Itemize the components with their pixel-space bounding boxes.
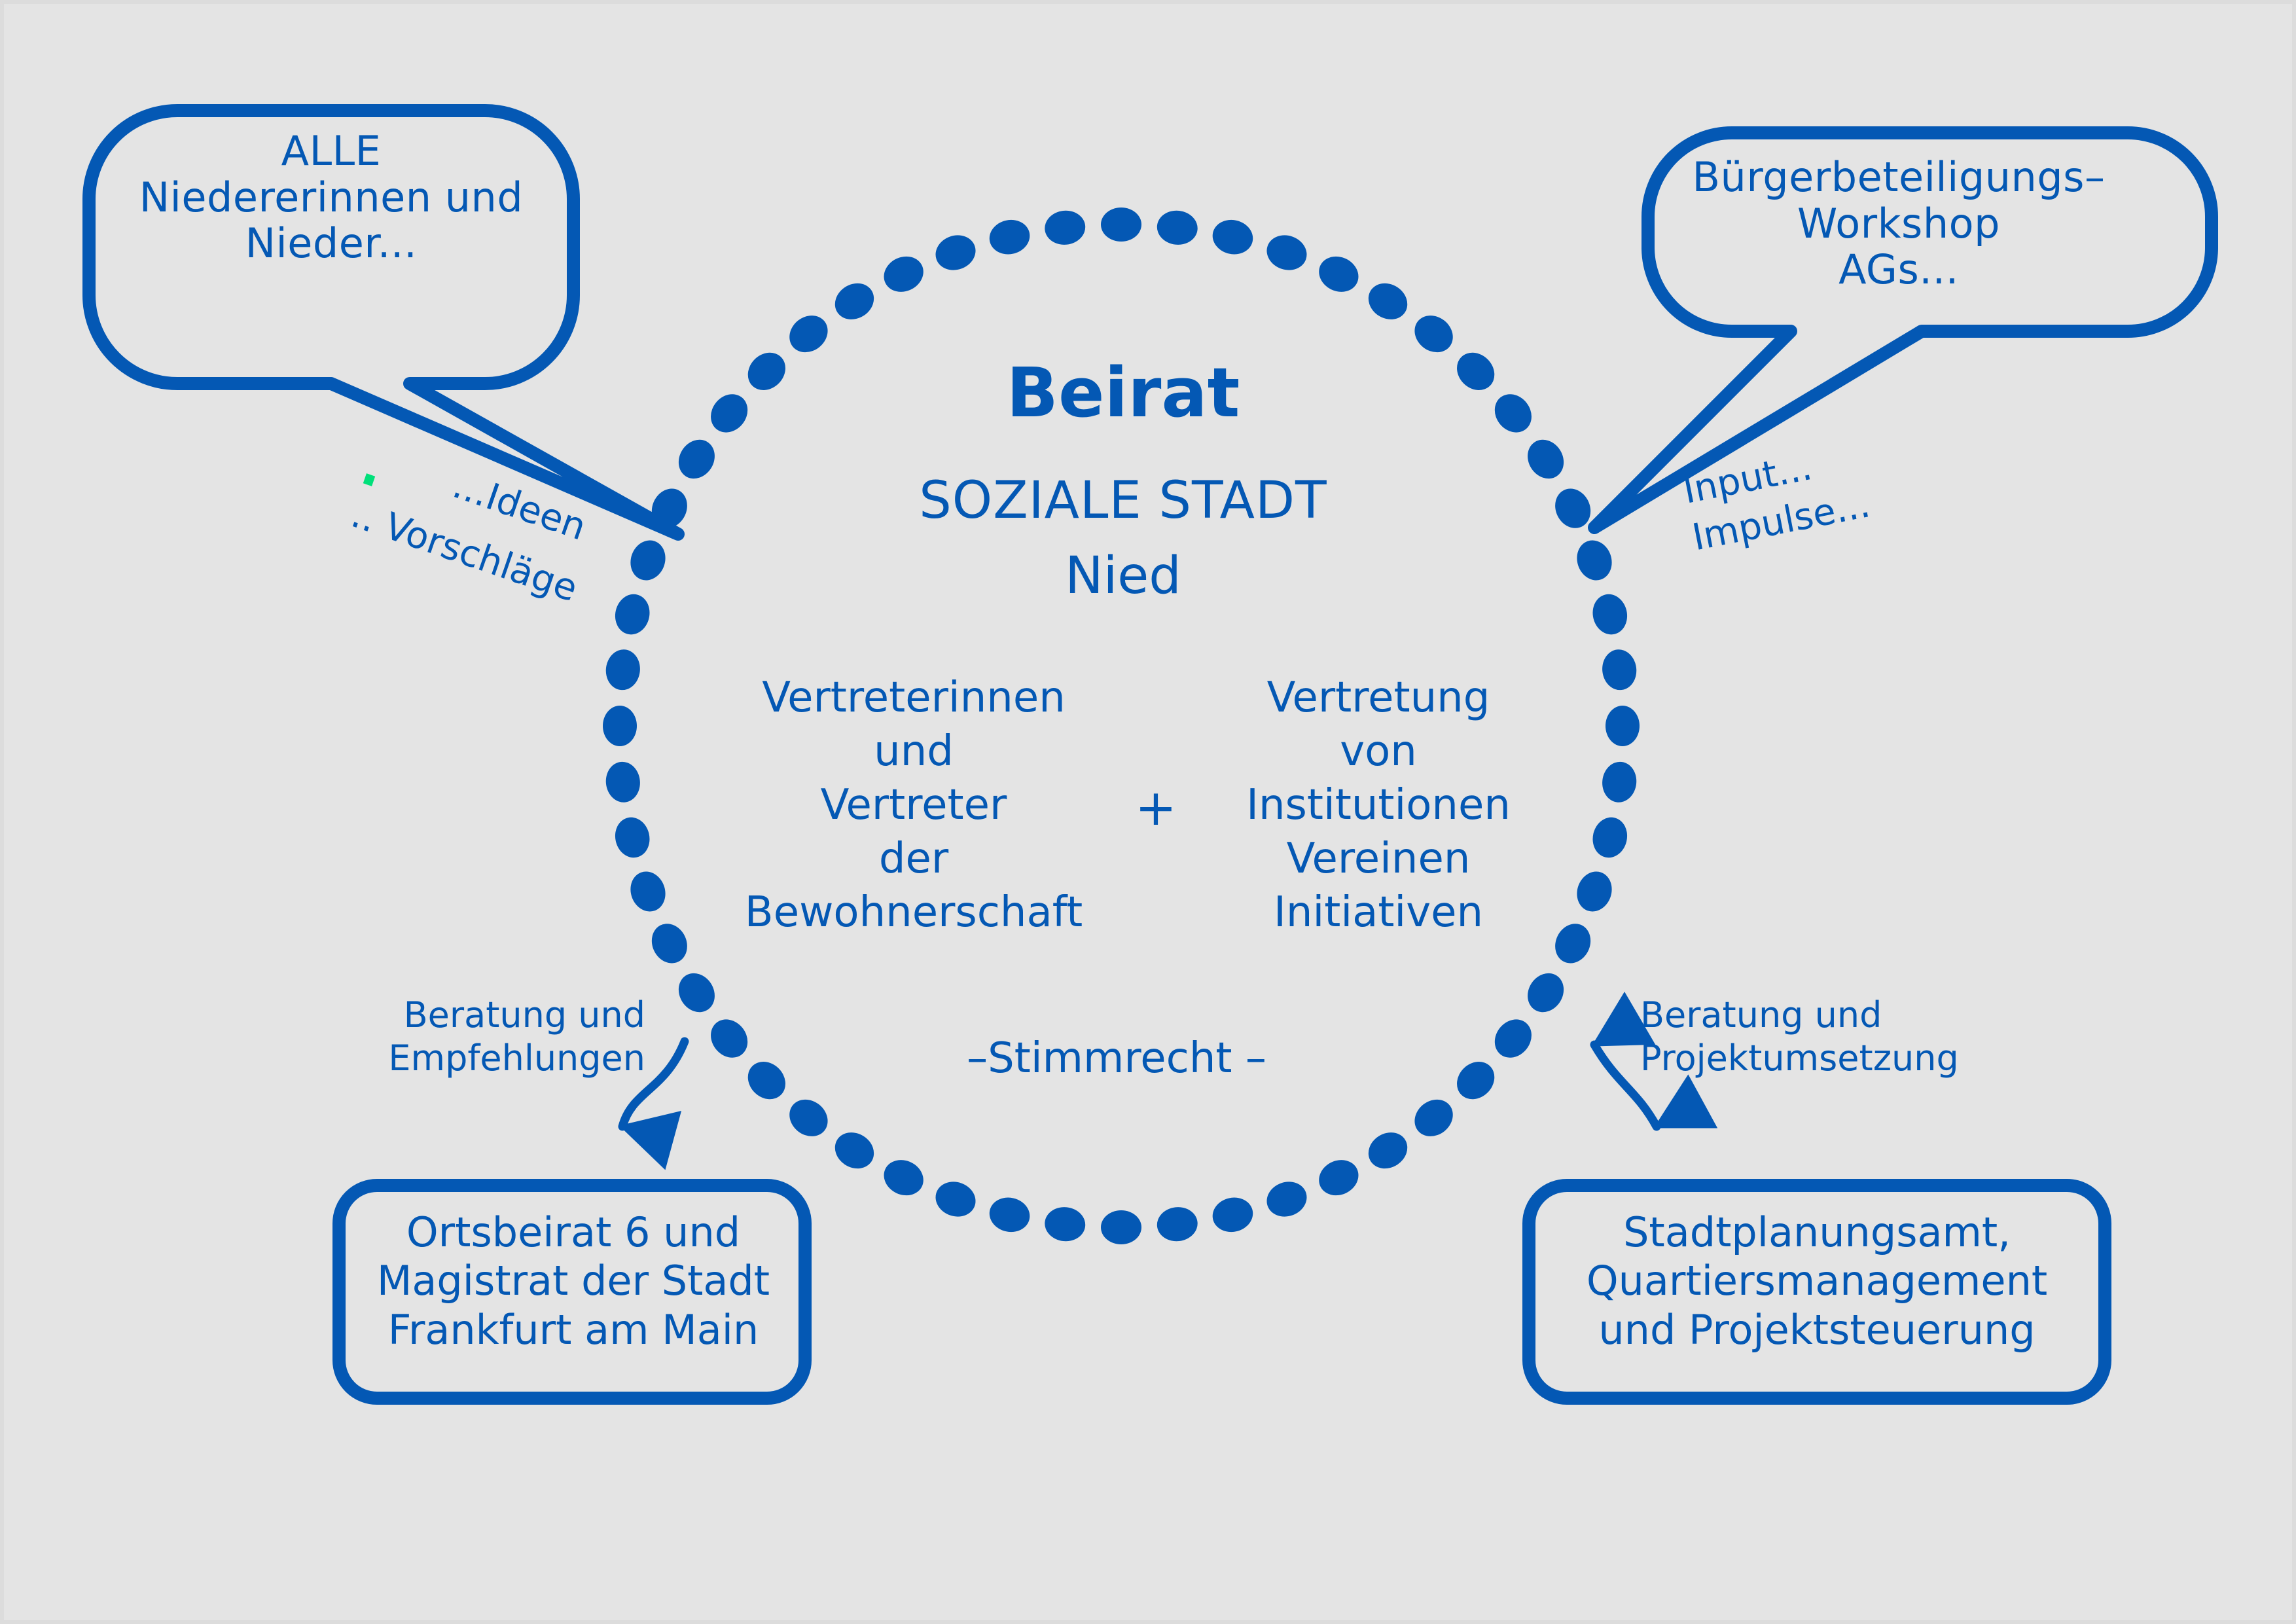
ring-dot — [1571, 535, 1617, 585]
ring-dot — [1361, 1125, 1414, 1176]
ring-dot — [1520, 966, 1571, 1019]
ring-dot — [1605, 706, 1640, 746]
ring-dot — [625, 535, 671, 585]
ring-dot — [1487, 387, 1539, 440]
members-institutions-column: Vertretung von Institutionen Vereinen In… — [1195, 672, 1562, 940]
ring-dot — [740, 1054, 793, 1107]
ring-dot — [1589, 591, 1631, 638]
ring-dot — [1155, 1205, 1199, 1244]
ring-dot — [603, 706, 637, 746]
ring-dot — [611, 814, 653, 861]
ring-dot — [828, 1125, 880, 1176]
ring-dot — [1571, 867, 1617, 916]
ring-dot — [1043, 209, 1087, 247]
ring-dot — [604, 760, 643, 804]
ring-dot — [625, 867, 671, 916]
ring-dot — [1589, 814, 1631, 861]
ring-dot — [878, 250, 929, 298]
ring-dot — [1600, 648, 1639, 692]
ring-dot — [931, 1176, 980, 1222]
page-title: Beirat — [776, 354, 1470, 432]
ring-dot — [1262, 230, 1312, 276]
ring-dot — [1101, 1210, 1141, 1244]
ring-dot — [986, 216, 1033, 258]
ring-dot — [878, 1153, 929, 1202]
box-right-label: Stadtplanungsamt, Quartiersmanagement un… — [1535, 1208, 2098, 1354]
ring-dot — [1449, 1054, 1502, 1107]
ring-dot — [1600, 760, 1639, 804]
ring-dot — [703, 1012, 755, 1065]
ring-dot — [1407, 1092, 1460, 1144]
label-beratung-empfehlungen: Beratung und Empfehlungen — [344, 994, 645, 1080]
ring-dot — [1313, 250, 1364, 298]
members-residents-column: Vertreterinnen und Vertreter der Bewohne… — [711, 672, 1117, 940]
ring-dot — [1361, 276, 1414, 327]
ring-dot — [1520, 433, 1571, 485]
ring-dot — [1262, 1176, 1312, 1222]
ring-dot — [828, 276, 880, 327]
ring-dot — [672, 433, 722, 485]
ring-dot — [986, 1194, 1033, 1236]
ring-dot — [1209, 216, 1256, 258]
ring-dot — [782, 308, 835, 359]
ring-dot — [1407, 308, 1460, 359]
bubble-left-label: ALLE Niedererinnen und Nieder... — [96, 128, 567, 267]
ring-dot — [611, 591, 653, 638]
ring-dot — [1313, 1153, 1364, 1202]
ring-dot — [645, 918, 694, 969]
plus-operator: + — [1103, 780, 1208, 837]
box-left-label: Ortsbeirat 6 und Magistrat der Stadt Fra… — [344, 1208, 802, 1354]
ring-dot — [672, 966, 722, 1019]
ring-dot — [782, 1092, 835, 1144]
stimmrecht-note: –Stimmrecht – — [907, 1035, 1326, 1083]
district-label: Nied — [776, 547, 1470, 605]
ring-dot — [1101, 208, 1141, 242]
label-beratung-projektumsetzung: Beratung und Projektumsetzung — [1640, 994, 1981, 1080]
ring-dot — [1487, 1012, 1539, 1065]
bubble-right-label: Bürgerbeteiligungs– Workshop AGs... — [1660, 154, 2138, 293]
ring-dot — [1209, 1194, 1256, 1236]
ring-dot — [1155, 209, 1199, 247]
subtitle: SOZIALE STADT — [776, 472, 1470, 530]
ring-dot — [931, 230, 980, 276]
diagram-page: ALLE Niedererinnen und Nieder... Bürgerb… — [0, 0, 2296, 1624]
ring-dot — [604, 648, 643, 692]
ring-dot — [1043, 1205, 1087, 1244]
ring-dot — [703, 387, 755, 440]
